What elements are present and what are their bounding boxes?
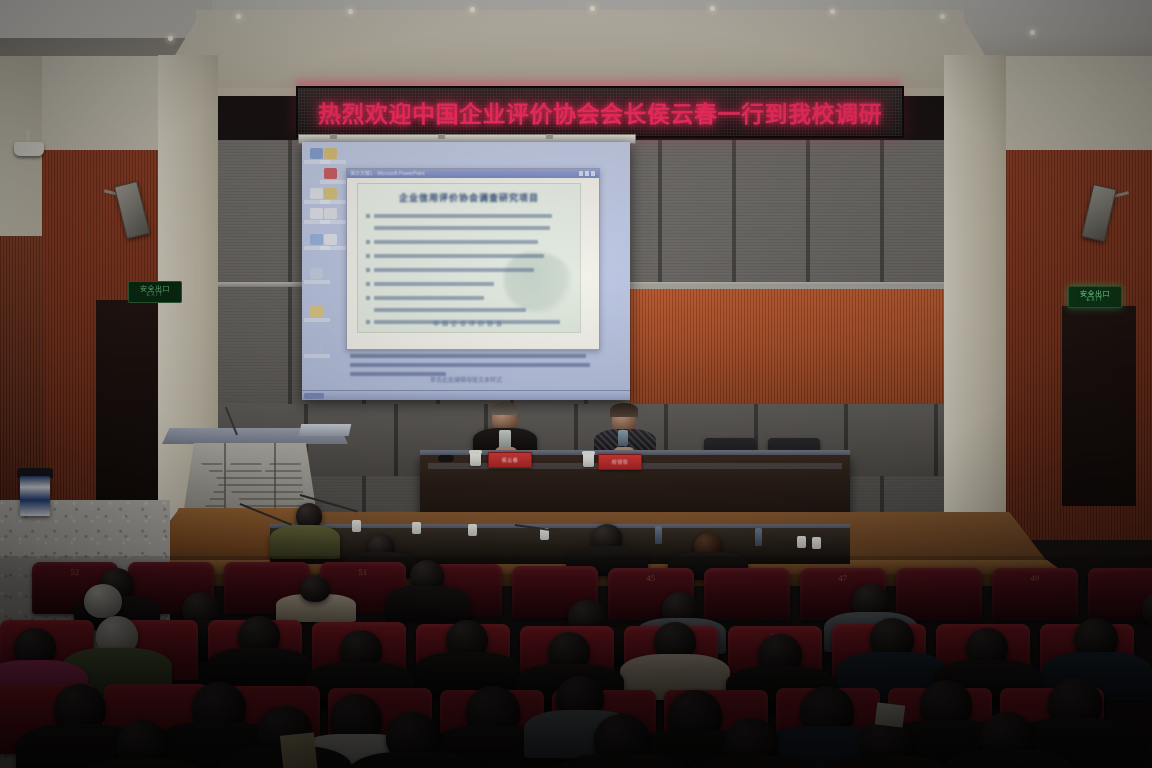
exit-sign-right: 安全出口 EXIT — [1068, 286, 1122, 308]
slide-bullet-line — [374, 254, 544, 258]
slide-bullet-marker — [366, 268, 370, 272]
slide-bullet-line — [374, 282, 494, 286]
screen-bottom-caption: 单击此处编辑母版文本样式 — [302, 377, 630, 386]
slide-bullet-line — [374, 226, 550, 230]
ceiling-downlight — [710, 6, 715, 11]
desktop-icon-label — [320, 160, 346, 164]
seated-speaker-scarf-right — [618, 430, 628, 446]
document-icon — [310, 208, 323, 219]
document-icon — [324, 234, 337, 245]
security-camera-icon — [14, 142, 44, 156]
slide-bullet-line — [374, 268, 534, 272]
slide-bullet-marker — [366, 214, 370, 218]
folder-icon — [324, 148, 337, 159]
slide-bullet-marker — [366, 296, 370, 300]
nameplate-left: 侯云春 — [488, 452, 532, 468]
powerpoint-titlebar[interactable]: 演示文稿1 - Microsoft PowerPoint — [347, 169, 599, 178]
slide-bullet-line — [374, 308, 526, 312]
slide-footer: 中国企业评价协会 — [358, 319, 580, 328]
slide-bullet-marker — [366, 240, 370, 244]
ceiling-downlight — [236, 14, 241, 19]
slide-bullet-line — [374, 296, 484, 300]
powerpoint-window-title: 演示文稿1 - Microsoft PowerPoint — [350, 170, 424, 177]
teacup — [797, 536, 806, 548]
water-bottle — [755, 528, 762, 546]
screen-roller-bracket — [546, 134, 553, 139]
pillar-right — [944, 55, 1006, 525]
seat-number: 51 — [320, 568, 406, 577]
powerpoint-slide: 企业信用评价协会调查研究项目 中国企业评价协会 — [357, 183, 581, 333]
desktop-icon-label — [304, 280, 330, 284]
table-remote — [438, 455, 454, 462]
led-banner: 热烈欢迎中国企业评价协会会长侯云春一行到我校调研 — [296, 86, 904, 138]
auditorium-photo: 安全出口 EXIT 安全出口 EXIT 热烈欢迎中国企业评价协会会长侯云春一行到… — [0, 0, 1152, 768]
document-icon — [324, 208, 337, 219]
note-line — [350, 372, 446, 376]
folder-icon — [310, 306, 323, 317]
slide-bullet-line — [374, 214, 552, 218]
app-icon — [310, 268, 323, 279]
seat-number: 45 — [608, 574, 694, 583]
teacup — [352, 520, 361, 532]
document-icon — [310, 188, 323, 199]
slide-bullet-marker — [366, 254, 370, 258]
ceiling-downlight — [348, 9, 353, 14]
auditorium-seat[interactable]: 49 — [992, 568, 1078, 620]
led-banner-text: 热烈欢迎中国企业评价协会会长侯云春一行到我校调研 — [298, 88, 902, 136]
ceiling-downlight — [470, 7, 475, 12]
seat-number: 47 — [800, 574, 886, 583]
doorway-right[interactable] — [1062, 306, 1136, 506]
desktop-icon-label — [320, 220, 346, 224]
exit-sign-label-en: EXIT — [1086, 298, 1103, 303]
teacup — [812, 537, 821, 549]
app-icon — [324, 168, 337, 179]
ceiling-downlight — [1030, 30, 1035, 35]
ceiling-downlight — [590, 6, 595, 11]
desktop-icon-label — [304, 354, 330, 358]
note-line — [350, 363, 590, 367]
desktop-taskbar[interactable] — [302, 390, 630, 400]
seated-speaker-hair-left — [491, 402, 518, 415]
desktop-icon-label — [320, 180, 346, 184]
desktop-icon-label — [320, 246, 346, 250]
slide-watermark-image — [504, 252, 574, 312]
ceiling-downlight — [168, 36, 173, 41]
teacup — [468, 524, 477, 536]
slide-bullet-marker — [366, 282, 370, 286]
powerpoint-window[interactable]: 演示文稿1 - Microsoft PowerPoint 企业信用评价协会调查研… — [346, 168, 600, 350]
slide-bullet-line — [374, 240, 538, 244]
nameplate-text: 侯云春 — [502, 457, 519, 464]
audience-head — [84, 584, 122, 618]
nameplate-right: 校领导 — [598, 454, 642, 470]
slide-title: 企业信用评价协会调查研究项目 — [358, 191, 580, 204]
screen-roller-bracket — [438, 134, 445, 139]
exit-sign-label-en: EXIT — [146, 293, 163, 298]
seat-number: 49 — [992, 574, 1078, 583]
handout-paper — [280, 732, 318, 768]
desktop-icon-label — [304, 318, 330, 322]
audience-seating: 52 51 45 47 49 — [0, 556, 1152, 768]
water-bottle — [655, 526, 662, 544]
trash-bin — [20, 476, 50, 516]
handout-paper — [875, 702, 905, 727]
auditorium-seat[interactable] — [896, 568, 982, 620]
audience-shoulders — [270, 525, 340, 559]
audience-shoulders — [386, 586, 470, 622]
computer-icon — [310, 148, 323, 159]
app-icon — [310, 342, 323, 353]
nameplate-text: 校领导 — [612, 459, 629, 466]
window-controls-icon[interactable] — [579, 171, 597, 176]
teacup — [583, 453, 594, 467]
folder-icon — [324, 188, 337, 199]
projector-screen: 演示文稿1 - Microsoft PowerPoint 企业信用评价协会调查研… — [302, 142, 630, 400]
start-button[interactable] — [304, 393, 324, 399]
exit-sign-left: 安全出口 EXIT — [128, 281, 182, 303]
teacup — [412, 522, 421, 534]
auditorium-seat[interactable] — [704, 568, 790, 620]
desktop-icon-label — [320, 200, 346, 204]
orange-wall-band — [630, 285, 944, 408]
ceiling-downlight — [940, 14, 945, 19]
audience-head — [300, 576, 330, 602]
seated-speaker-hair-right — [610, 403, 638, 417]
ceiling-downlight — [830, 9, 835, 14]
media-icon — [310, 234, 323, 245]
screen-roller-bracket — [330, 134, 337, 139]
lectern-laptop — [299, 424, 352, 436]
note-line — [350, 354, 586, 358]
teacup — [470, 452, 481, 466]
doorway-left[interactable] — [96, 300, 158, 500]
